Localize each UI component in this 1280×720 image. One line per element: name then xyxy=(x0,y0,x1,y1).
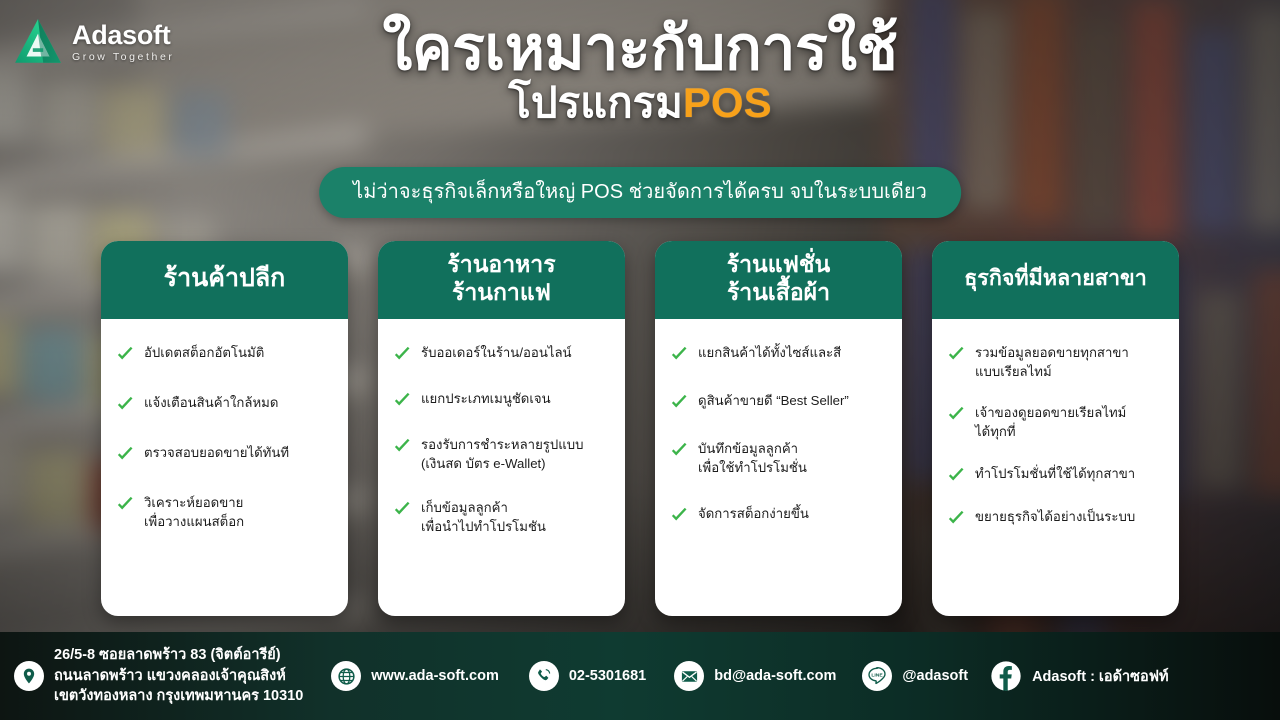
location-pin-icon xyxy=(14,661,44,691)
footer-email[interactable]: bd@ada-soft.com xyxy=(674,661,836,691)
hero-subtitle-pill: ไม่ว่าจะธุรกิจเล็กหรือใหญ่ POS ช่วยจัดกา… xyxy=(319,167,961,218)
globe-icon xyxy=(331,661,361,691)
feature-card-multi-branch[interactable]: ธุรกิจที่มีหลายสาขา รวมข้อมูลยอดขายทุกสา… xyxy=(932,241,1179,616)
card-title-restaurant-cafe: ร้านอาหารร้านกาแฟ xyxy=(378,241,625,319)
card-title-line: ร้านกาแฟ xyxy=(452,279,551,305)
feature-cards-row: ร้านค้าปลีก อัปเดตสต็อกอัตโนมัติ แจ้งเตื… xyxy=(101,241,1179,616)
check-icon xyxy=(115,394,135,414)
list-item: รวมข้อมูลยอดขายทุกสาขาแบบเรียลไทม์ xyxy=(946,343,1165,381)
card-title-multi-branch: ธุรกิจที่มีหลายสาขา xyxy=(932,241,1179,319)
card-feature-list: รับออเดอร์ในร้าน/ออนไลน์ แยกประเภทเมนูชั… xyxy=(378,319,625,616)
check-icon xyxy=(669,392,689,412)
hero-title-line2: โปรแกรมPOS xyxy=(0,80,1280,126)
svg-text:LINE: LINE xyxy=(872,673,884,679)
card-title-line: ร้านอาหาร xyxy=(447,251,555,277)
footer-facebook-text: Adasoft : เอด้าซอฟท์ xyxy=(1032,665,1168,688)
check-icon xyxy=(115,444,135,464)
list-item: แยกประเภทเมนูชัดเจน xyxy=(392,389,611,410)
line-icon: LINE xyxy=(862,661,892,691)
list-item-label: แยกสินค้าได้ทั้งไซส์และสี xyxy=(698,343,841,362)
list-item: เจ้าของดูยอดขายเรียลไทม์ได้ทุกที่ xyxy=(946,403,1165,441)
list-item: รองรับการชำระหลายรูปแบบ(เงินสด บัตร e-Wa… xyxy=(392,435,611,473)
check-icon xyxy=(392,390,412,410)
list-item-label: ตรวจสอบยอดขายได้ทันที xyxy=(144,443,289,462)
list-item: ดูสินค้าขายดี “Best Seller” xyxy=(669,391,888,412)
footer-phone-text: 02-5301681 xyxy=(569,668,646,684)
list-item: จัดการสต็อกง่ายขึ้น xyxy=(669,504,888,525)
list-item-label: แยกประเภทเมนูชัดเจน xyxy=(421,389,551,408)
check-icon xyxy=(946,465,966,485)
check-icon xyxy=(392,344,412,364)
check-icon xyxy=(115,344,135,364)
check-icon xyxy=(669,344,689,364)
list-item: แจ้งเตือนสินค้าใกล้หมด xyxy=(115,393,334,414)
card-title-lines: ร้านอาหารร้านกาแฟ xyxy=(447,250,555,306)
list-item: ทำโปรโมชั่นที่ใช้ได้ทุกสาขา xyxy=(946,464,1165,485)
list-item: บันทึกข้อมูลลูกค้าเพื่อใช้ทำโปรโมชั่น xyxy=(669,439,888,477)
card-feature-list: แยกสินค้าได้ทั้งไซส์และสี ดูสินค้าขายดี … xyxy=(655,319,902,616)
feature-card-restaurant-cafe[interactable]: ร้านอาหารร้านกาแฟ รับออเดอร์ในร้าน/ออนไล… xyxy=(378,241,625,616)
list-item: วิเคราะห์ยอดขายเพื่อวางแผนสต็อก xyxy=(115,493,334,531)
feature-card-retail[interactable]: ร้านค้าปลีก อัปเดตสต็อกอัตโนมัติ แจ้งเตื… xyxy=(101,241,348,616)
footer-address-line3: เขตวังทองหลาง กรุงเทพมหานคร 10310 xyxy=(54,686,303,707)
list-item-label: รองรับการชำระหลายรูปแบบ(เงินสด บัตร e-Wa… xyxy=(421,435,584,473)
card-title-line: ร้านเสื้อผ้า xyxy=(727,279,830,305)
list-item-label: อัปเดตสต็อกอัตโนมัติ xyxy=(144,343,264,362)
list-item-label: ขยายธุรกิจได้อย่างเป็นระบบ xyxy=(975,507,1135,526)
list-item-label: แจ้งเตือนสินค้าใกล้หมด xyxy=(144,393,278,412)
card-title-lines: ร้านแฟชั่นร้านเสื้อผ้า xyxy=(727,250,830,306)
hero-title-line2-prefix: โปรแกรม xyxy=(508,79,683,126)
card-feature-list: อัปเดตสต็อกอัตโนมัติ แจ้งเตือนสินค้าใกล้… xyxy=(101,319,348,616)
card-title-line: ร้านค้าปลีก xyxy=(164,263,286,294)
list-item-label: เก็บข้อมูลลูกค้าเพื่อนำไปทำโปรโมชัน xyxy=(421,498,546,536)
check-icon xyxy=(392,499,412,519)
list-item-label: เจ้าของดูยอดขายเรียลไทม์ได้ทุกที่ xyxy=(975,403,1126,441)
facebook-icon xyxy=(990,660,1022,692)
list-item-label: จัดการสต็อกง่ายขึ้น xyxy=(698,504,809,523)
footer-address-text: 26/5-8 ซอยลาดพร้าว 83 (จิตต์อารีย์) ถนนล… xyxy=(54,645,303,707)
footer-website[interactable]: www.ada-soft.com xyxy=(331,661,499,691)
hero-title-block: ใครเหมาะกับการใช้ โปรแกรมPOS xyxy=(0,14,1280,127)
list-item: ขยายธุรกิจได้อย่างเป็นระบบ xyxy=(946,507,1165,528)
hero-title-line1: ใครเหมาะกับการใช้ xyxy=(0,14,1280,82)
card-title-retail: ร้านค้าปลีก xyxy=(101,241,348,319)
check-icon xyxy=(392,436,412,456)
list-item: ตรวจสอบยอดขายได้ทันที xyxy=(115,443,334,464)
footer-address-line1: 26/5-8 ซอยลาดพร้าว 83 (จิตต์อารีย์) xyxy=(54,645,303,666)
check-icon xyxy=(946,404,966,424)
footer-line[interactable]: LINE @adasoft xyxy=(862,661,968,691)
check-icon xyxy=(669,505,689,525)
check-icon xyxy=(946,508,966,528)
envelope-icon xyxy=(674,661,704,691)
footer-line-text: @adasoft xyxy=(902,668,968,684)
check-icon xyxy=(669,440,689,460)
footer-email-text: bd@ada-soft.com xyxy=(714,668,836,684)
list-item-label: วิเคราะห์ยอดขายเพื่อวางแผนสต็อก xyxy=(144,493,244,531)
list-item: แยกสินค้าได้ทั้งไซส์และสี xyxy=(669,343,888,364)
phone-icon xyxy=(529,661,559,691)
footer-website-text: www.ada-soft.com xyxy=(371,668,499,684)
footer-address: 26/5-8 ซอยลาดพร้าว 83 (จิตต์อารีย์) ถนนล… xyxy=(14,645,303,707)
feature-card-fashion-apparel[interactable]: ร้านแฟชั่นร้านเสื้อผ้า แยกสินค้าได้ทั้งไ… xyxy=(655,241,902,616)
list-item: อัปเดตสต็อกอัตโนมัติ xyxy=(115,343,334,364)
list-item: รับออเดอร์ในร้าน/ออนไลน์ xyxy=(392,343,611,364)
list-item-label: ดูสินค้าขายดี “Best Seller” xyxy=(698,391,849,410)
list-item: เก็บข้อมูลลูกค้าเพื่อนำไปทำโปรโมชัน xyxy=(392,498,611,536)
card-title-fashion-apparel: ร้านแฟชั่นร้านเสื้อผ้า xyxy=(655,241,902,319)
hero-title-pos-highlight: POS xyxy=(683,79,772,126)
infographic-canvas: Adasoft Grow Together ใครเหมาะกับการใช้ … xyxy=(0,0,1280,720)
list-item-label: ทำโปรโมชั่นที่ใช้ได้ทุกสาขา xyxy=(975,464,1135,483)
contact-footer: 26/5-8 ซอยลาดพร้าว 83 (จิตต์อารีย์) ถนนล… xyxy=(0,632,1280,720)
card-title-line: ธุรกิจที่มีหลายสาขา xyxy=(964,265,1147,291)
check-icon xyxy=(115,494,135,514)
list-item-label: รับออเดอร์ในร้าน/ออนไลน์ xyxy=(421,343,572,362)
footer-phone[interactable]: 02-5301681 xyxy=(529,661,646,691)
check-icon xyxy=(946,344,966,364)
footer-address-line2: ถนนลาดพร้าว แขวงคลองเจ้าคุณสิงห์ xyxy=(54,666,303,687)
list-item-label: บันทึกข้อมูลลูกค้าเพื่อใช้ทำโปรโมชั่น xyxy=(698,439,807,477)
footer-facebook[interactable]: Adasoft : เอด้าซอฟท์ xyxy=(990,660,1168,692)
card-feature-list: รวมข้อมูลยอดขายทุกสาขาแบบเรียลไทม์ เจ้าข… xyxy=(932,319,1179,616)
card-title-line: ร้านแฟชั่น xyxy=(727,251,830,277)
list-item-label: รวมข้อมูลยอดขายทุกสาขาแบบเรียลไทม์ xyxy=(975,343,1129,381)
